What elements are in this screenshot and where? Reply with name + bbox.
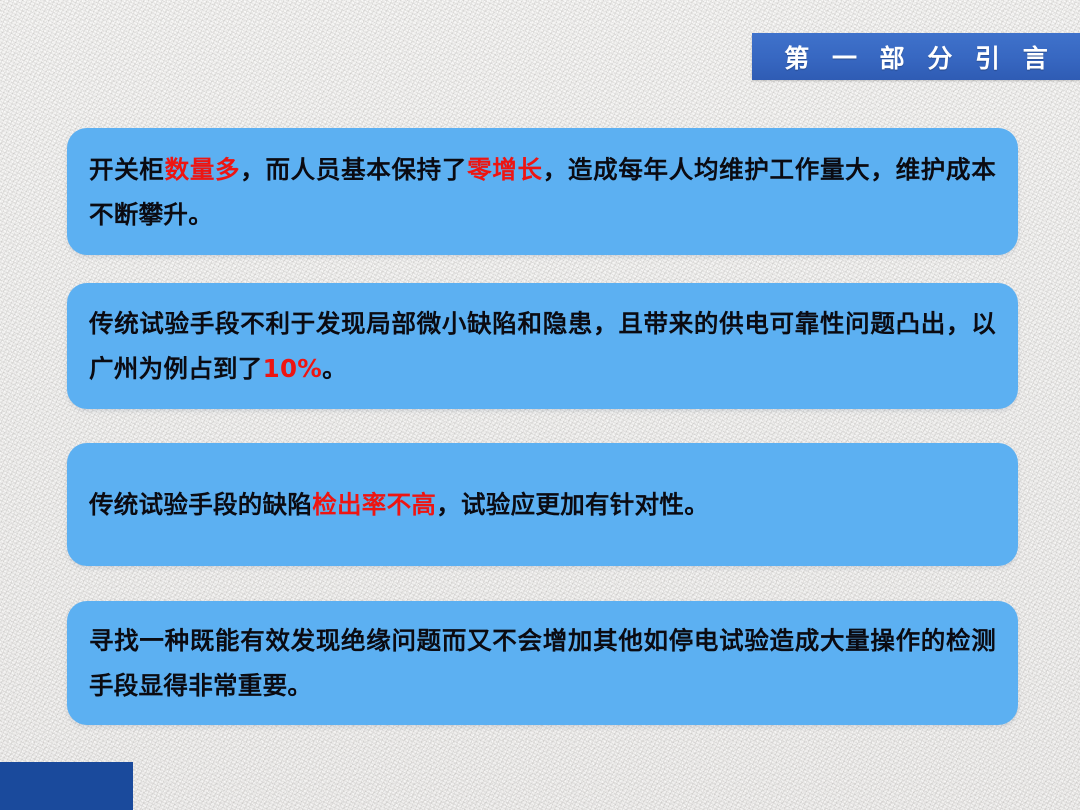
section-banner: 第 一 部 分 引 言 <box>752 33 1080 80</box>
body-text: 寻找一种既能有效发现绝缘问题而又不会增加其他如停电试验造成大量操作的检测手段显得… <box>89 626 996 700</box>
content-box-3: 传统试验手段的缺陷检出率不高，试验应更加有针对性。 <box>67 443 1018 566</box>
content-box-4-text: 寻找一种既能有效发现绝缘问题而又不会增加其他如停电试验造成大量操作的检测手段显得… <box>89 618 996 708</box>
content-box-3-text: 传统试验手段的缺陷检出率不高，试验应更加有针对性。 <box>89 482 996 527</box>
highlighted-text: 检出率不高 <box>312 490 436 519</box>
content-box-4-inner: 寻找一种既能有效发现绝缘问题而又不会增加其他如停电试验造成大量操作的检测手段显得… <box>67 618 1018 708</box>
content-box-2-inner: 传统试验手段不利于发现局部微小缺陷和隐患，且带来的供电可靠性问题凸出，以广州为例… <box>67 301 1018 391</box>
highlighted-text: 数量多 <box>165 155 241 184</box>
content-box-1-text: 开关柜数量多，而人员基本保持了零增长，造成每年人均维护工作量大，维护成本不断攀升… <box>89 147 996 237</box>
slide-canvas: 第 一 部 分 引 言 开关柜数量多，而人员基本保持了零增长，造成每年人均维护工… <box>0 0 1080 810</box>
content-box-1: 开关柜数量多，而人员基本保持了零增长，造成每年人均维护工作量大，维护成本不断攀升… <box>67 128 1018 255</box>
body-text: ，试验应更加有针对性。 <box>436 490 709 519</box>
body-text: ，而人员基本保持了 <box>240 155 467 184</box>
footer-accent-block <box>0 762 133 810</box>
body-text: 。 <box>322 354 347 383</box>
body-text: 传统试验手段不利于发现局部微小缺陷和隐患，且带来的供电可靠性问题凸出，以广州为例… <box>89 309 996 383</box>
content-box-1-inner: 开关柜数量多，而人员基本保持了零增长，造成每年人均维护工作量大，维护成本不断攀升… <box>67 147 1018 237</box>
body-text: 开关柜 <box>89 155 165 184</box>
content-box-2: 传统试验手段不利于发现局部微小缺陷和隐患，且带来的供电可靠性问题凸出，以广州为例… <box>67 283 1018 409</box>
highlighted-text: 10% <box>263 354 323 383</box>
content-box-3-inner: 传统试验手段的缺陷检出率不高，试验应更加有针对性。 <box>67 482 1018 527</box>
content-box-2-text: 传统试验手段不利于发现局部微小缺陷和隐患，且带来的供电可靠性问题凸出，以广州为例… <box>89 301 996 391</box>
body-text: 传统试验手段的缺陷 <box>89 490 312 519</box>
highlighted-text: 零增长 <box>467 155 543 184</box>
content-box-4: 寻找一种既能有效发现绝缘问题而又不会增加其他如停电试验造成大量操作的检测手段显得… <box>67 601 1018 725</box>
section-banner-title: 第 一 部 分 引 言 <box>777 39 1055 75</box>
